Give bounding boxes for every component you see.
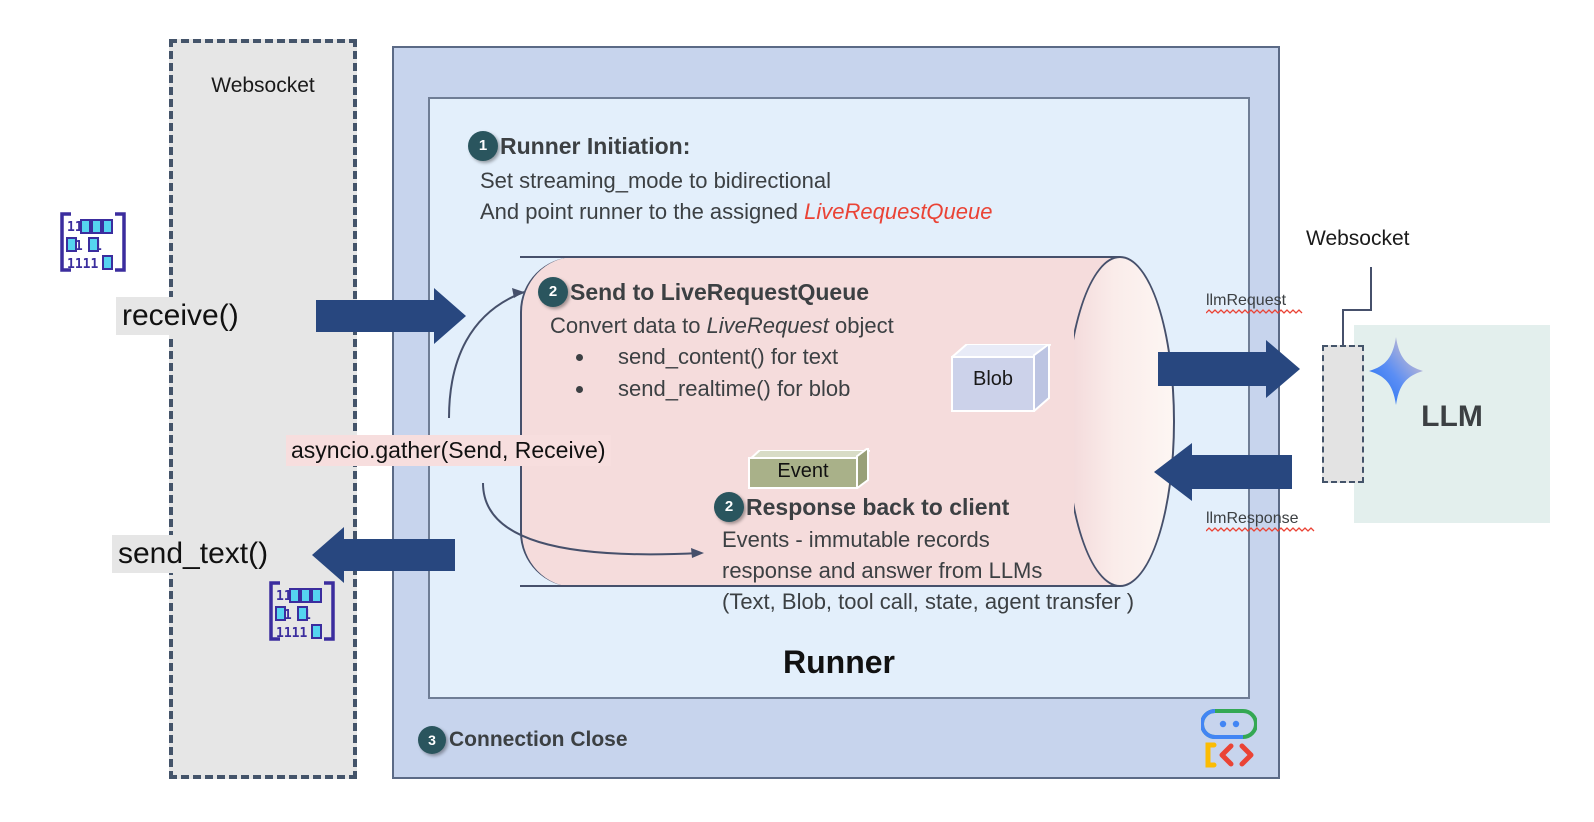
llm-response-arrow-icon (1154, 443, 1292, 501)
spellcheck-squiggle-icon-2 (1206, 527, 1326, 532)
curve-arrow-to-queue (449, 288, 524, 418)
llm-response-label: llmResponse (1206, 510, 1298, 527)
llm-response-label-wrap: llmResponse (1206, 510, 1326, 532)
llm-request-arrow-icon (1158, 340, 1300, 398)
asyncio-gather-label: asyncio.gather(Send, Receive) (286, 435, 611, 466)
llm-request-label: llmRequest (1206, 292, 1286, 309)
receive-arrow-icon (316, 288, 466, 344)
send-text-arrow-icon (312, 527, 455, 583)
gemini-sparkle-icon (1368, 335, 1424, 412)
spellcheck-squiggle-icon (1206, 309, 1314, 314)
curve-arrow-to-response (483, 483, 704, 558)
websocket-server-label: Websocket (1306, 227, 1410, 251)
llm-request-label-wrap: llmRequest (1206, 292, 1314, 314)
